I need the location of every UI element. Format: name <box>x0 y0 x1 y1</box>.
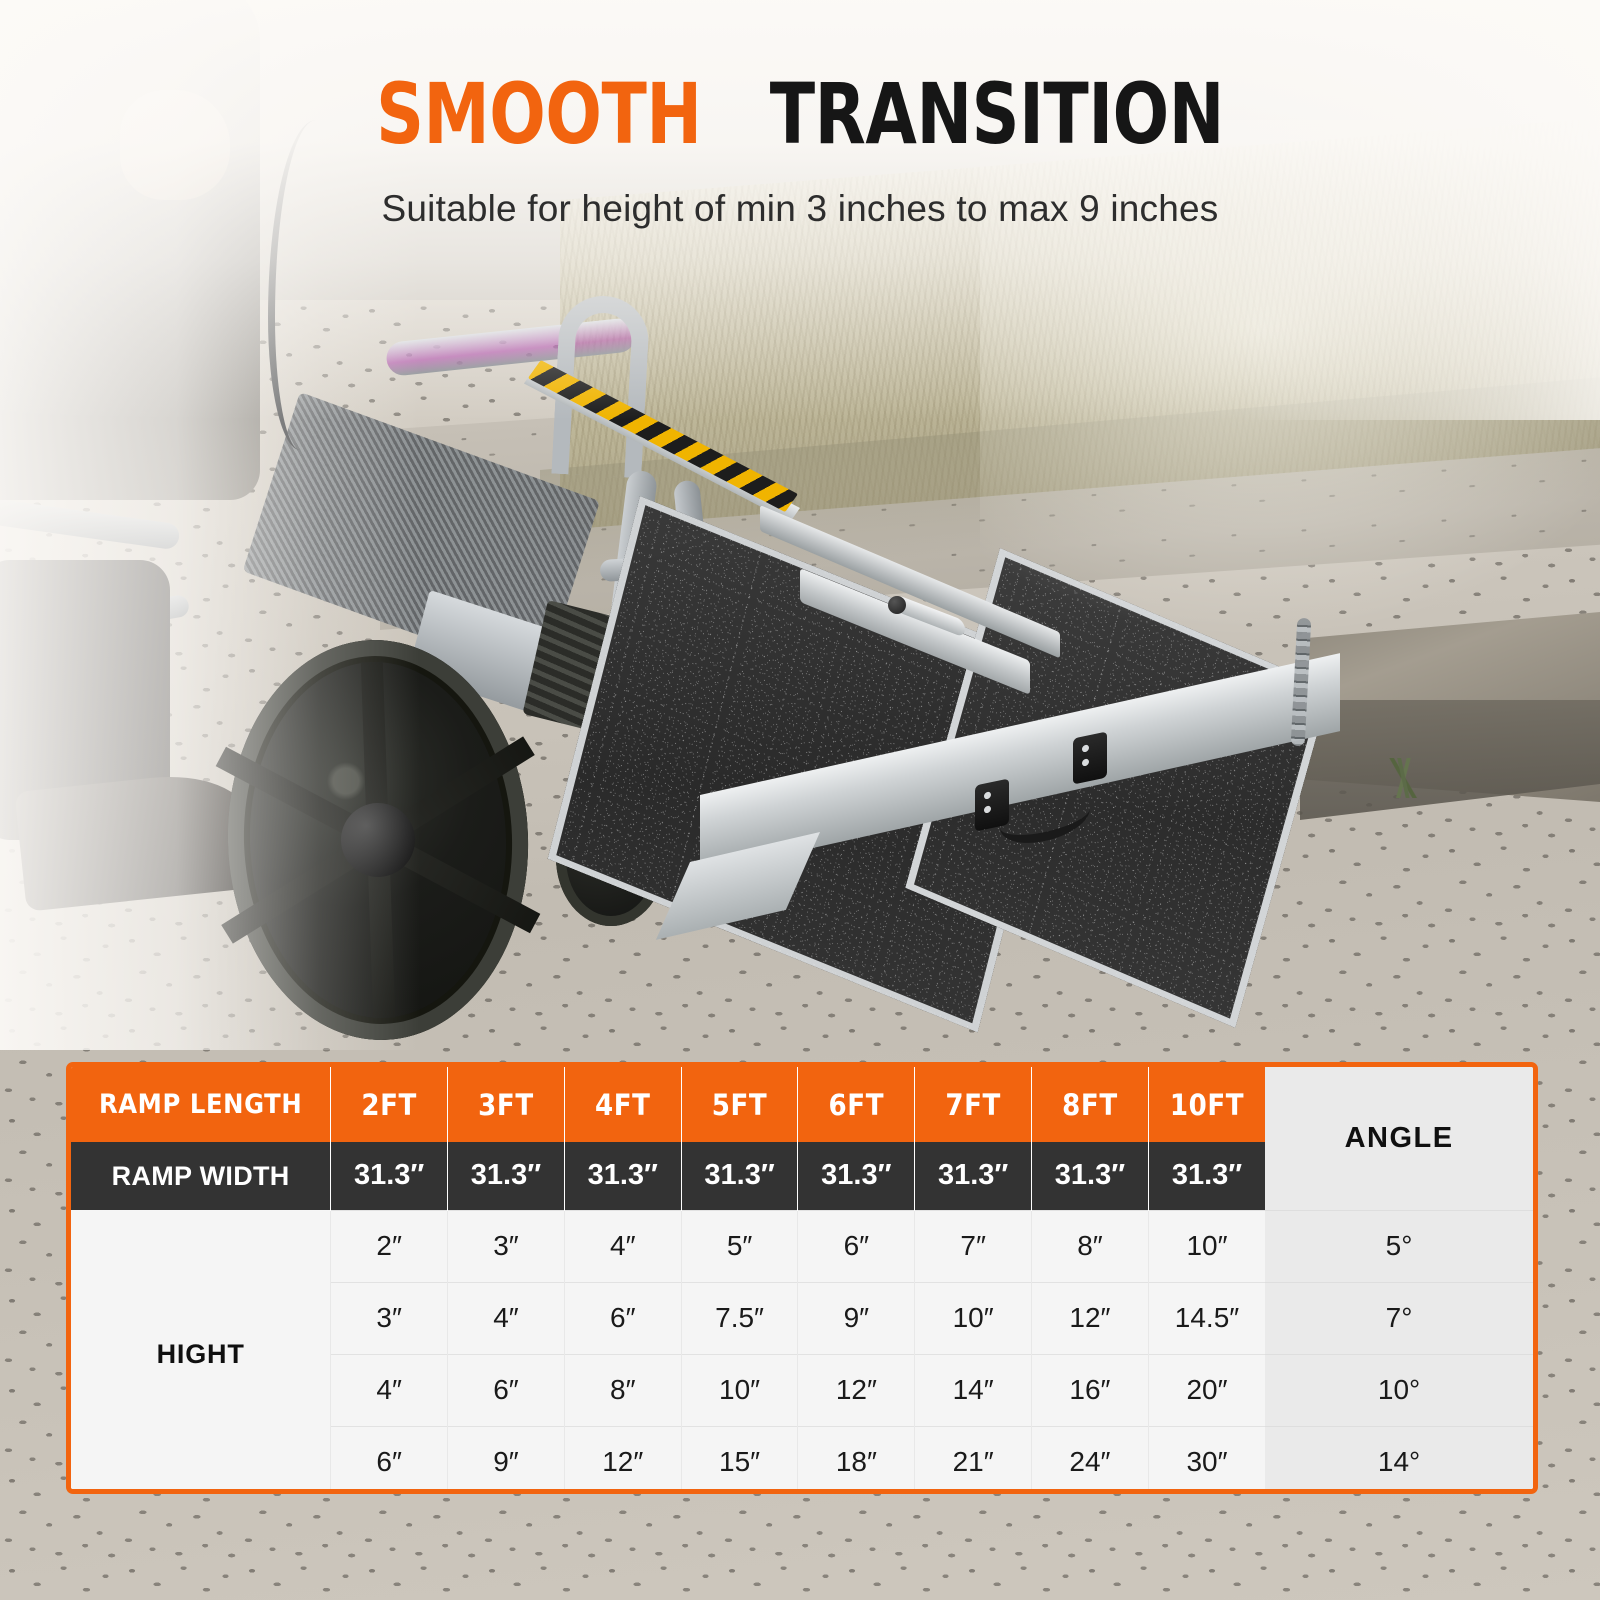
cell-length-4: 6FT <box>798 1067 915 1142</box>
cell-h1-6: 12″ <box>1032 1282 1149 1354</box>
cell-length-3: 5FT <box>681 1067 798 1142</box>
cell-length-0: 2FT <box>331 1067 448 1142</box>
cell-h1-3: 7.5″ <box>681 1282 798 1354</box>
cell-h0-1: 3″ <box>448 1210 565 1282</box>
cell-h3-4: 18″ <box>798 1426 915 1494</box>
cell-h3-0: 6″ <box>331 1426 448 1494</box>
table-row-height-1: HIGHT 2″ 3″ 4″ 5″ 6″ 7″ 8″ 10″ 5° <box>71 1210 1533 1282</box>
cell-h0-3: 5″ <box>681 1210 798 1282</box>
cell-width-0: 31.3″ <box>331 1142 448 1210</box>
cell-angle-3: 14° <box>1265 1426 1533 1494</box>
cell-length-2: 4FT <box>564 1067 681 1142</box>
cell-h2-4: 12″ <box>798 1354 915 1426</box>
cell-width-6: 31.3″ <box>1032 1142 1149 1210</box>
weed-sprout <box>1370 758 1440 798</box>
cell-length-6: 8FT <box>1032 1067 1149 1142</box>
cell-length-1: 3FT <box>448 1067 565 1142</box>
row-header-height: HIGHT <box>71 1210 331 1494</box>
cell-h1-2: 6″ <box>564 1282 681 1354</box>
page-title: SMOOTH TRANSITION <box>96 72 1504 156</box>
table-row-ramp-length: RAMP LENGTH 2FT 3FT 4FT 5FT 6FT 7FT 8FT … <box>71 1067 1533 1142</box>
row-header-ramp-width: RAMP WIDTH <box>71 1142 331 1210</box>
column-header-angle: ANGLE <box>1265 1067 1533 1210</box>
cell-h3-3: 15″ <box>681 1426 798 1494</box>
ramp-latch-front <box>975 778 1009 831</box>
page-subtitle: Suitable for height of min 3 inches to m… <box>0 188 1600 230</box>
cell-h2-7: 20″ <box>1148 1354 1265 1426</box>
cell-h0-7: 10″ <box>1148 1210 1265 1282</box>
cell-length-5: 7FT <box>915 1067 1032 1142</box>
cell-h1-7: 14.5″ <box>1148 1282 1265 1354</box>
cell-h1-0: 3″ <box>331 1282 448 1354</box>
cell-width-5: 31.3″ <box>915 1142 1032 1210</box>
row-header-ramp-length: RAMP LENGTH <box>71 1067 331 1142</box>
cell-h3-5: 21″ <box>915 1426 1032 1494</box>
cell-h3-6: 24″ <box>1032 1426 1149 1494</box>
cell-angle-0: 5° <box>1265 1210 1533 1282</box>
ramp-hinge-knob <box>888 596 906 614</box>
ramp-spec-grid: RAMP LENGTH 2FT 3FT 4FT 5FT 6FT 7FT 8FT … <box>71 1067 1533 1494</box>
cell-angle-1: 7° <box>1265 1282 1533 1354</box>
specification-table: RAMP LENGTH 2FT 3FT 4FT 5FT 6FT 7FT 8FT … <box>66 1062 1538 1494</box>
cell-width-3: 31.3″ <box>681 1142 798 1210</box>
cell-h2-2: 8″ <box>564 1354 681 1426</box>
ramp-latch-rear <box>1073 731 1107 784</box>
headline-main: TRANSITION <box>770 65 1224 163</box>
cell-h0-2: 4″ <box>564 1210 681 1282</box>
cell-length-7: 10FT <box>1148 1067 1265 1142</box>
cell-h0-4: 6″ <box>798 1210 915 1282</box>
cell-h2-1: 6″ <box>448 1354 565 1426</box>
cell-h3-2: 12″ <box>564 1426 681 1494</box>
cell-h1-4: 9″ <box>798 1282 915 1354</box>
headline-accent: SMOOTH <box>376 65 702 163</box>
cell-width-2: 31.3″ <box>564 1142 681 1210</box>
cell-angle-2: 10° <box>1265 1354 1533 1426</box>
cell-h1-1: 4″ <box>448 1282 565 1354</box>
cell-h2-0: 4″ <box>331 1354 448 1426</box>
cell-h3-7: 30″ <box>1148 1426 1265 1494</box>
cell-h0-0: 2″ <box>331 1210 448 1282</box>
cell-h2-5: 14″ <box>915 1354 1032 1426</box>
cell-width-7: 31.3″ <box>1148 1142 1265 1210</box>
cell-width-4: 31.3″ <box>798 1142 915 1210</box>
cell-h3-1: 9″ <box>448 1426 565 1494</box>
cell-h2-3: 10″ <box>681 1354 798 1426</box>
cell-h2-6: 16″ <box>1032 1354 1149 1426</box>
cell-h0-5: 7″ <box>915 1210 1032 1282</box>
cell-width-1: 31.3″ <box>448 1142 565 1210</box>
cell-h0-6: 8″ <box>1032 1210 1149 1282</box>
cell-h1-5: 10″ <box>915 1282 1032 1354</box>
